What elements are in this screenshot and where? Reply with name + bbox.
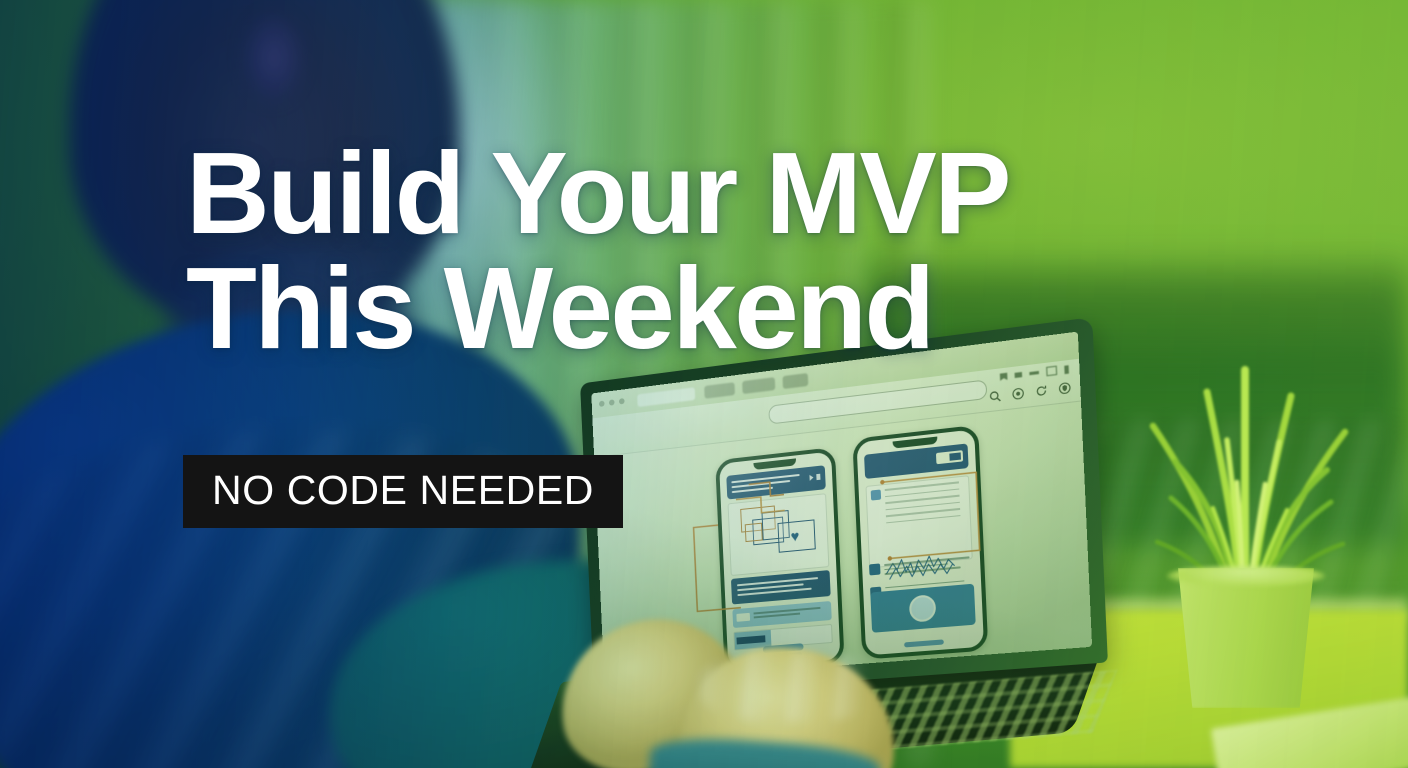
tag-icon[interactable] bbox=[1015, 372, 1023, 378]
browser-window-dots bbox=[599, 398, 625, 407]
thumbnail-icon bbox=[736, 613, 750, 622]
phone-home-indicator bbox=[904, 639, 944, 647]
play-icon[interactable] bbox=[809, 474, 813, 480]
chart-gridlines bbox=[885, 481, 966, 529]
search-icon[interactable] bbox=[988, 389, 1002, 404]
bookmark-icon[interactable] bbox=[1000, 373, 1008, 381]
wireframe-box bbox=[745, 523, 763, 542]
potted-plant bbox=[1095, 330, 1395, 640]
phone-mockup-wireframe: ♥ bbox=[715, 447, 845, 672]
phone-a-canvas: ♥ bbox=[728, 493, 830, 576]
link-icon[interactable] bbox=[1029, 371, 1039, 375]
phone-b-chart-card bbox=[865, 475, 972, 568]
next-icon[interactable] bbox=[816, 474, 820, 480]
window-dot-icon bbox=[599, 401, 605, 407]
plant-pot bbox=[1167, 568, 1325, 708]
phone-a-header-text bbox=[731, 474, 800, 496]
window-icon[interactable] bbox=[1046, 366, 1057, 377]
battery-icon[interactable] bbox=[1064, 365, 1069, 374]
browser-tab[interactable] bbox=[742, 377, 775, 394]
shield-icon[interactable] bbox=[1058, 381, 1072, 396]
hero-banner: ♥ bbox=[0, 0, 1408, 768]
phone-mockup-analytics bbox=[852, 425, 988, 660]
phone-a-header-controls[interactable] bbox=[809, 474, 820, 481]
phone-b-header-button[interactable] bbox=[936, 450, 963, 464]
phone-a-banner bbox=[731, 570, 831, 604]
status-badge: NO CODE NEEDED bbox=[183, 455, 623, 528]
heart-icon: ♥ bbox=[790, 529, 799, 545]
person-ear bbox=[240, 10, 306, 106]
browser-tab[interactable] bbox=[704, 382, 735, 399]
target-icon[interactable] bbox=[1011, 386, 1025, 401]
page-title: Build Your MVP This Weekend bbox=[186, 136, 1146, 366]
grid-icon bbox=[869, 563, 880, 575]
window-dot-icon bbox=[609, 399, 615, 405]
browser-tab[interactable] bbox=[637, 387, 695, 407]
plant-pot-rim bbox=[1167, 566, 1325, 586]
browser-tab[interactable] bbox=[782, 373, 808, 389]
hand-knuckles bbox=[700, 652, 880, 722]
refresh-icon[interactable] bbox=[1034, 383, 1048, 398]
phone-a-info-strip bbox=[732, 601, 831, 628]
chart-thumbnail-icon bbox=[871, 489, 881, 500]
record-circle-icon bbox=[909, 594, 937, 623]
window-dot-icon bbox=[619, 398, 625, 404]
phone-b-header bbox=[864, 443, 969, 479]
phone-b-cta-button[interactable] bbox=[870, 584, 975, 633]
